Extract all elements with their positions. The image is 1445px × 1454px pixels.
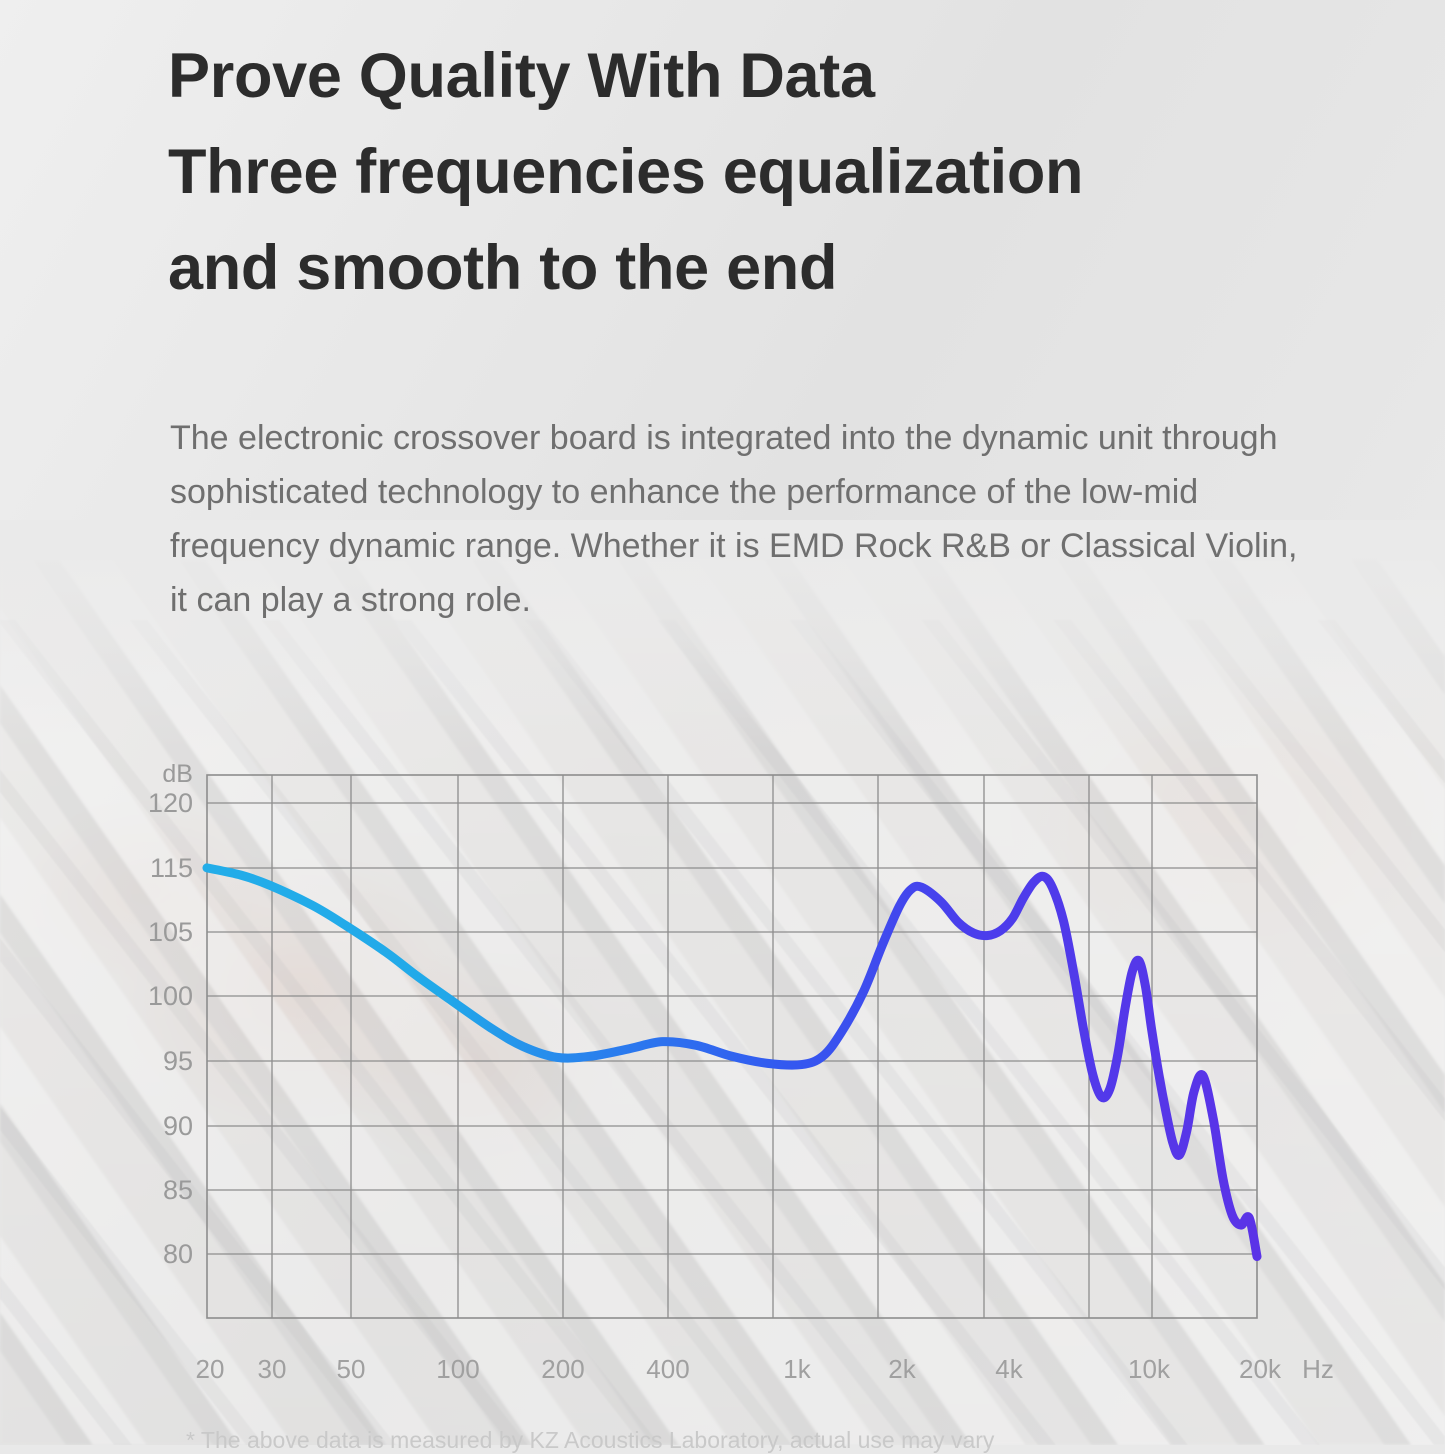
frequency-response-chart: dB 120 115 105 100 95 90 85 80 20 30 50 …: [0, 0, 1445, 1445]
chart-svg: dB 120 115 105 100 95 90 85 80 20 30 50 …: [0, 0, 1445, 1445]
y-tick-label-85: 85: [163, 1175, 193, 1205]
y-tick-label-105: 105: [148, 917, 193, 947]
x-tick-label-400: 400: [646, 1354, 689, 1384]
y-tick-label-115: 115: [150, 853, 193, 883]
y-axis-labels: dB 120 115 105 100 95 90 85 80: [148, 760, 193, 1269]
x-tick-label-50: 50: [337, 1354, 366, 1384]
frequency-response-curve: [207, 868, 1257, 1257]
x-tick-label-20: 20: [196, 1354, 225, 1384]
x-tick-label-4k: 4k: [995, 1354, 1023, 1384]
chart-footnote: * The above data is measured by KZ Acous…: [186, 1427, 1386, 1454]
y-tick-label-100: 100: [148, 981, 193, 1011]
x-tick-label-30: 30: [258, 1354, 287, 1384]
x-tick-label-1k: 1k: [783, 1354, 811, 1384]
y-tick-label-80: 80: [163, 1239, 193, 1269]
y-tick-label-95: 95: [163, 1046, 193, 1076]
y-tick-label-120: 120: [148, 788, 193, 818]
x-axis-unit-label: Hz: [1302, 1354, 1334, 1384]
chart-grid: [207, 775, 1257, 1318]
x-tick-label-20k: 20k: [1239, 1354, 1282, 1384]
x-axis-labels: 20 30 50 100 200 400 1k 2k 4k 10k 20k Hz: [196, 1354, 1334, 1384]
x-tick-label-10k: 10k: [1128, 1354, 1171, 1384]
x-tick-label-200: 200: [541, 1354, 584, 1384]
x-tick-label-100: 100: [436, 1354, 479, 1384]
x-tick-label-2k: 2k: [888, 1354, 916, 1384]
y-axis-unit-label: dB: [162, 760, 193, 788]
y-tick-label-90: 90: [163, 1111, 193, 1141]
